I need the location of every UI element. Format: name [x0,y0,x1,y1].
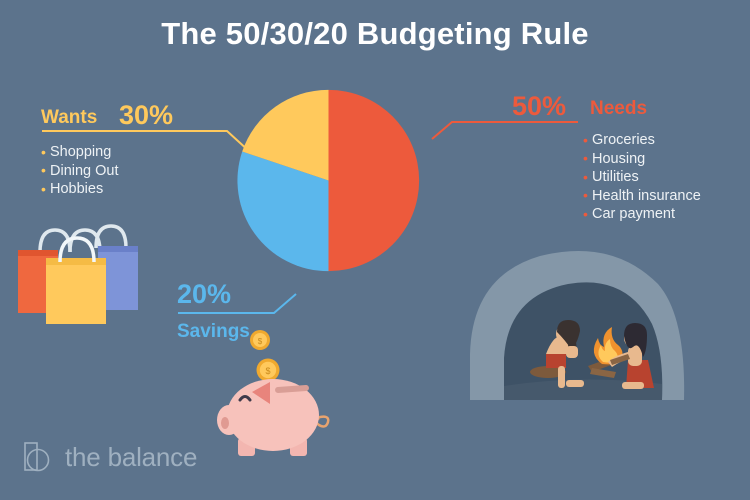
svg-text:$: $ [265,366,270,376]
cave-campfire-icon [462,242,690,407]
wants-percent-label: 30% [119,102,173,129]
page-title: The 50/30/20 Budgeting Rule [0,16,750,52]
wants-item-list: Shopping Dining Out Hobbies [41,143,119,199]
coin-icon: $ [250,330,270,350]
infographic-canvas: The 50/30/20 Budgeting Rule Wants 30% Sh… [0,0,750,500]
needs-percent-label: 50% [512,93,566,120]
callout-wants-header: Wants 30% [41,102,271,128]
wants-category-label: Wants [41,108,97,127]
list-item: Shopping [41,143,119,162]
svg-text:$: $ [258,337,263,346]
list-item: Car payment [583,205,701,224]
brand-logo: the balance [22,440,197,474]
list-item: Hobbies [41,180,119,199]
list-item: Health insurance [583,187,701,206]
needs-category-label: Needs [590,99,647,118]
balance-logo-mark [22,440,56,474]
list-item: Utilities [583,168,701,187]
savings-percent-label: 20% [177,281,231,308]
coin-icon: $ [257,359,280,382]
list-item: Housing [583,150,701,169]
list-item: Dining Out [41,162,119,181]
connector-line-needs [432,122,578,139]
pie-slice-needs [329,90,420,271]
piggy-bank-icon: $ $ [196,326,346,466]
list-item: Groceries [583,131,701,150]
needs-item-list: Groceries Housing Utilities Health insur… [583,131,701,224]
callout-needs-header: 50% Needs [512,93,742,119]
shopping-bags-icon [14,212,142,329]
brand-logo-text: the balance [65,442,197,473]
